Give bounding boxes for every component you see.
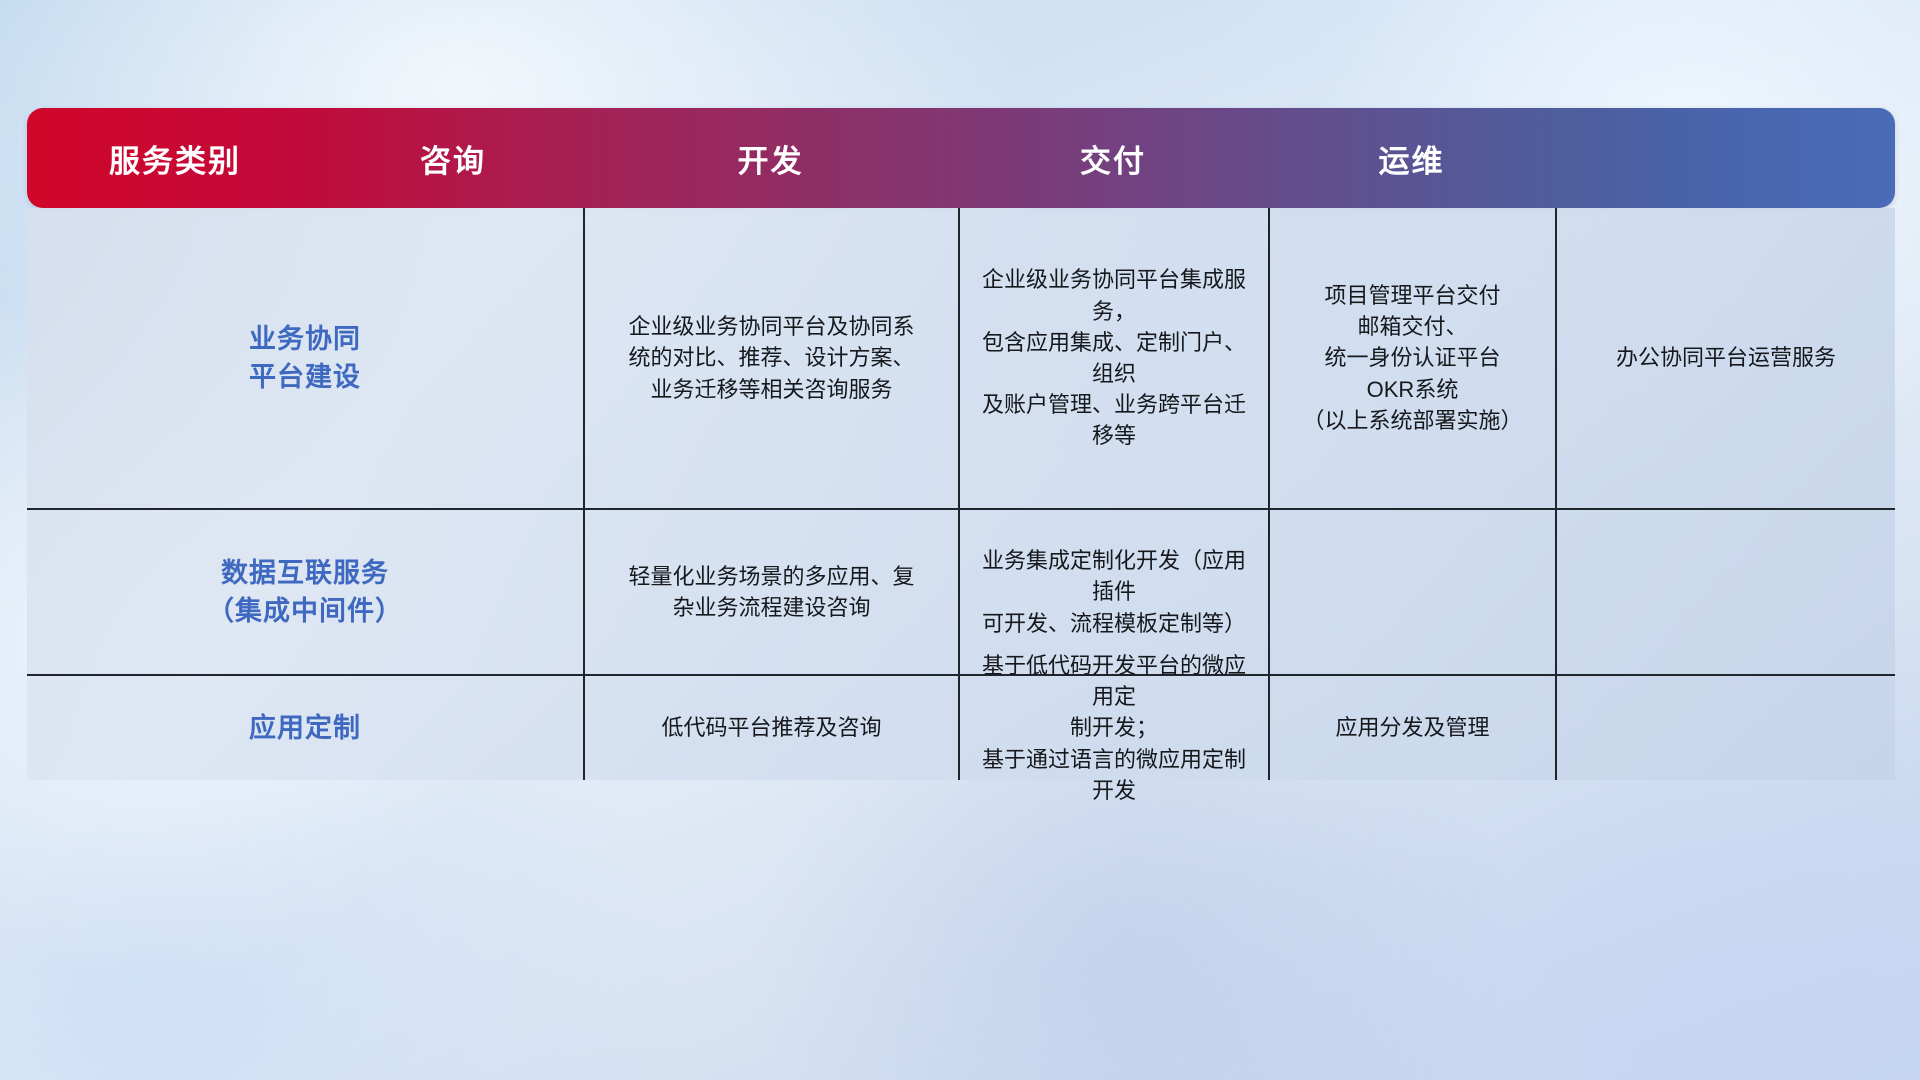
header-cell-consulting: 咨询: [323, 108, 583, 208]
table-row: 项目管理平台交付 邮箱交付、 统一身份认证平台 OKR系统 （以上系统部署实施）: [1270, 208, 1555, 508]
header-cell-development: 开发: [583, 108, 958, 208]
table-row: 业务协同 平台建设: [27, 208, 583, 508]
table-row: 基于低代码开发平台的微应用定 制开发； 基于通过语言的微应用定制开发: [960, 676, 1268, 780]
table-row: 企业级业务协同平台及协同系 统的对比、推荐、设计方案、 业务迁移等相关咨询服务: [585, 208, 958, 508]
header-cell-service-category: 服务类别: [27, 108, 323, 208]
table-row: 数据互联服务 （集成中间件）: [27, 510, 583, 674]
service-matrix-table: 服务类别 咨询 开发 交付 运维 业务协同 平台建设 企业级业务协同平台及协同系…: [27, 108, 1895, 780]
table-row: 办公协同平台运营服务: [1557, 208, 1895, 508]
table-row: [1270, 510, 1555, 674]
table-header-row: 服务类别 咨询 开发 交付 运维: [27, 108, 1895, 208]
header-cell-operations: 运维: [1268, 108, 1555, 208]
table-row: 企业级业务协同平台集成服务， 包含应用集成、定制门户、组织 及账户管理、业务跨平…: [960, 208, 1268, 508]
table-row: 低代码平台推荐及咨询: [585, 676, 958, 780]
header-spacer: [1555, 108, 1895, 208]
header-cell-delivery: 交付: [958, 108, 1268, 208]
table-row: [1557, 510, 1895, 674]
table-row: [1557, 676, 1895, 780]
table-row: 应用分发及管理: [1270, 676, 1555, 780]
table-row: 应用定制: [27, 676, 583, 780]
table-body-panel: 业务协同 平台建设 企业级业务协同平台及协同系 统的对比、推荐、设计方案、 业务…: [27, 208, 1895, 780]
table-row: 轻量化业务场景的多应用、复 杂业务流程建设咨询: [585, 510, 958, 674]
